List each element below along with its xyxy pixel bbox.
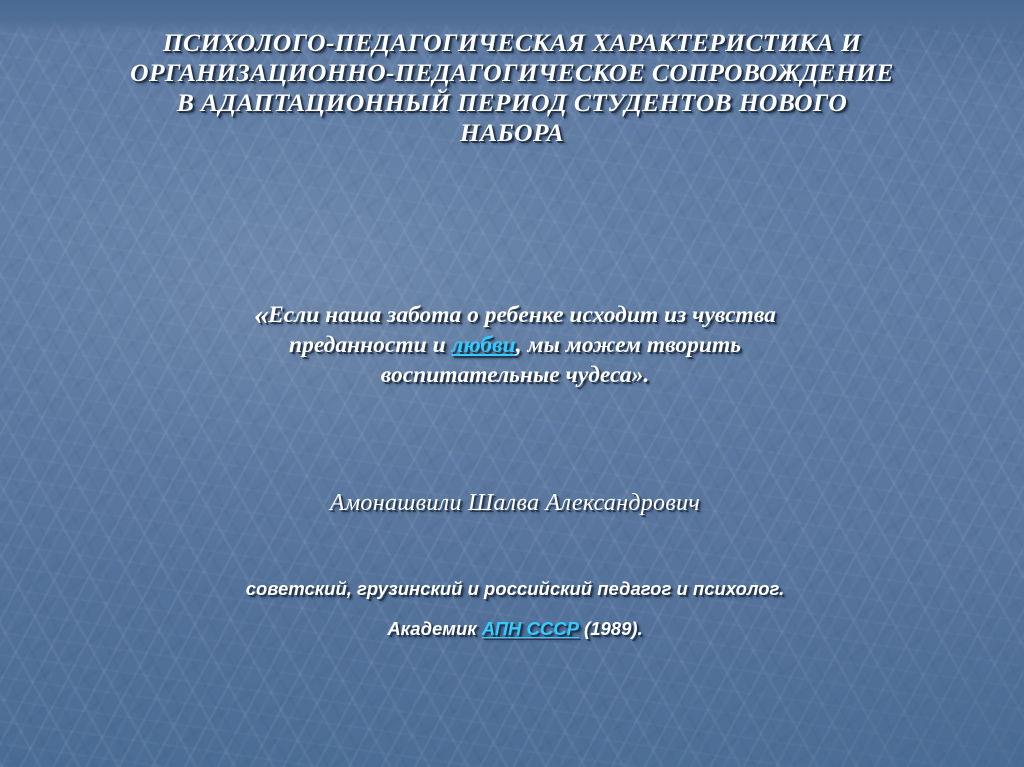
- open-quote-mark: «: [254, 298, 268, 331]
- quote-text-2b: , мы можем творить: [516, 332, 741, 358]
- lyubvi-hyperlink[interactable]: любви: [452, 332, 516, 358]
- quote-text-1: Если наша забота о ребенке исходит из чу…: [268, 302, 776, 328]
- slide-title: ПСИХОЛОГО-ПЕДАГОГИЧЕСКАЯ ХАРАКТЕРИСТИКА …: [62, 28, 962, 148]
- presentation-slide: ПСИХОЛОГО-ПЕДАГОГИЧЕСКАЯ ХАРАКТЕРИСТИКА …: [0, 0, 1024, 767]
- credit-text-2b: (1989).: [579, 618, 643, 639]
- author-name: Амонашвили Шалва Александрович: [120, 488, 910, 518]
- title-line-1: ПСИХОЛОГО-ПЕДАГОГИЧЕСКАЯ ХАРАКТЕРИСТИКА …: [62, 28, 962, 58]
- author-block: Амонашвили Шалва Александрович: [120, 488, 910, 518]
- apn-sssr-hyperlink[interactable]: АПН СССР: [482, 618, 579, 639]
- credit-line-2: Академик АПН СССР (1989).: [80, 618, 950, 640]
- quote-text-2a: преданности и: [289, 332, 452, 358]
- title-line-4: НАБОРА: [62, 118, 962, 148]
- quote-line-3: воспитательные чудеса».: [120, 360, 910, 390]
- credit-block: советский, грузинский и российский педаг…: [80, 578, 950, 640]
- credit-text-2a: Академик: [387, 618, 481, 639]
- credit-line-1: советский, грузинский и российский педаг…: [80, 578, 950, 600]
- title-line-2: ОРГАНИЗАЦИОННО-ПЕДАГОГИЧЕСКОЕ СОПРОВОЖДЕ…: [62, 58, 962, 88]
- quote-line-1: «Если наша забота о ребенке исходит из ч…: [120, 300, 910, 330]
- quote-block: «Если наша забота о ребенке исходит из ч…: [120, 300, 910, 390]
- quote-line-2: преданности и любви, мы можем творить: [120, 330, 910, 360]
- title-line-3: В АДАПТАЦИОННЫЙ ПЕРИОД СТУДЕНТОВ НОВОГО: [62, 88, 962, 118]
